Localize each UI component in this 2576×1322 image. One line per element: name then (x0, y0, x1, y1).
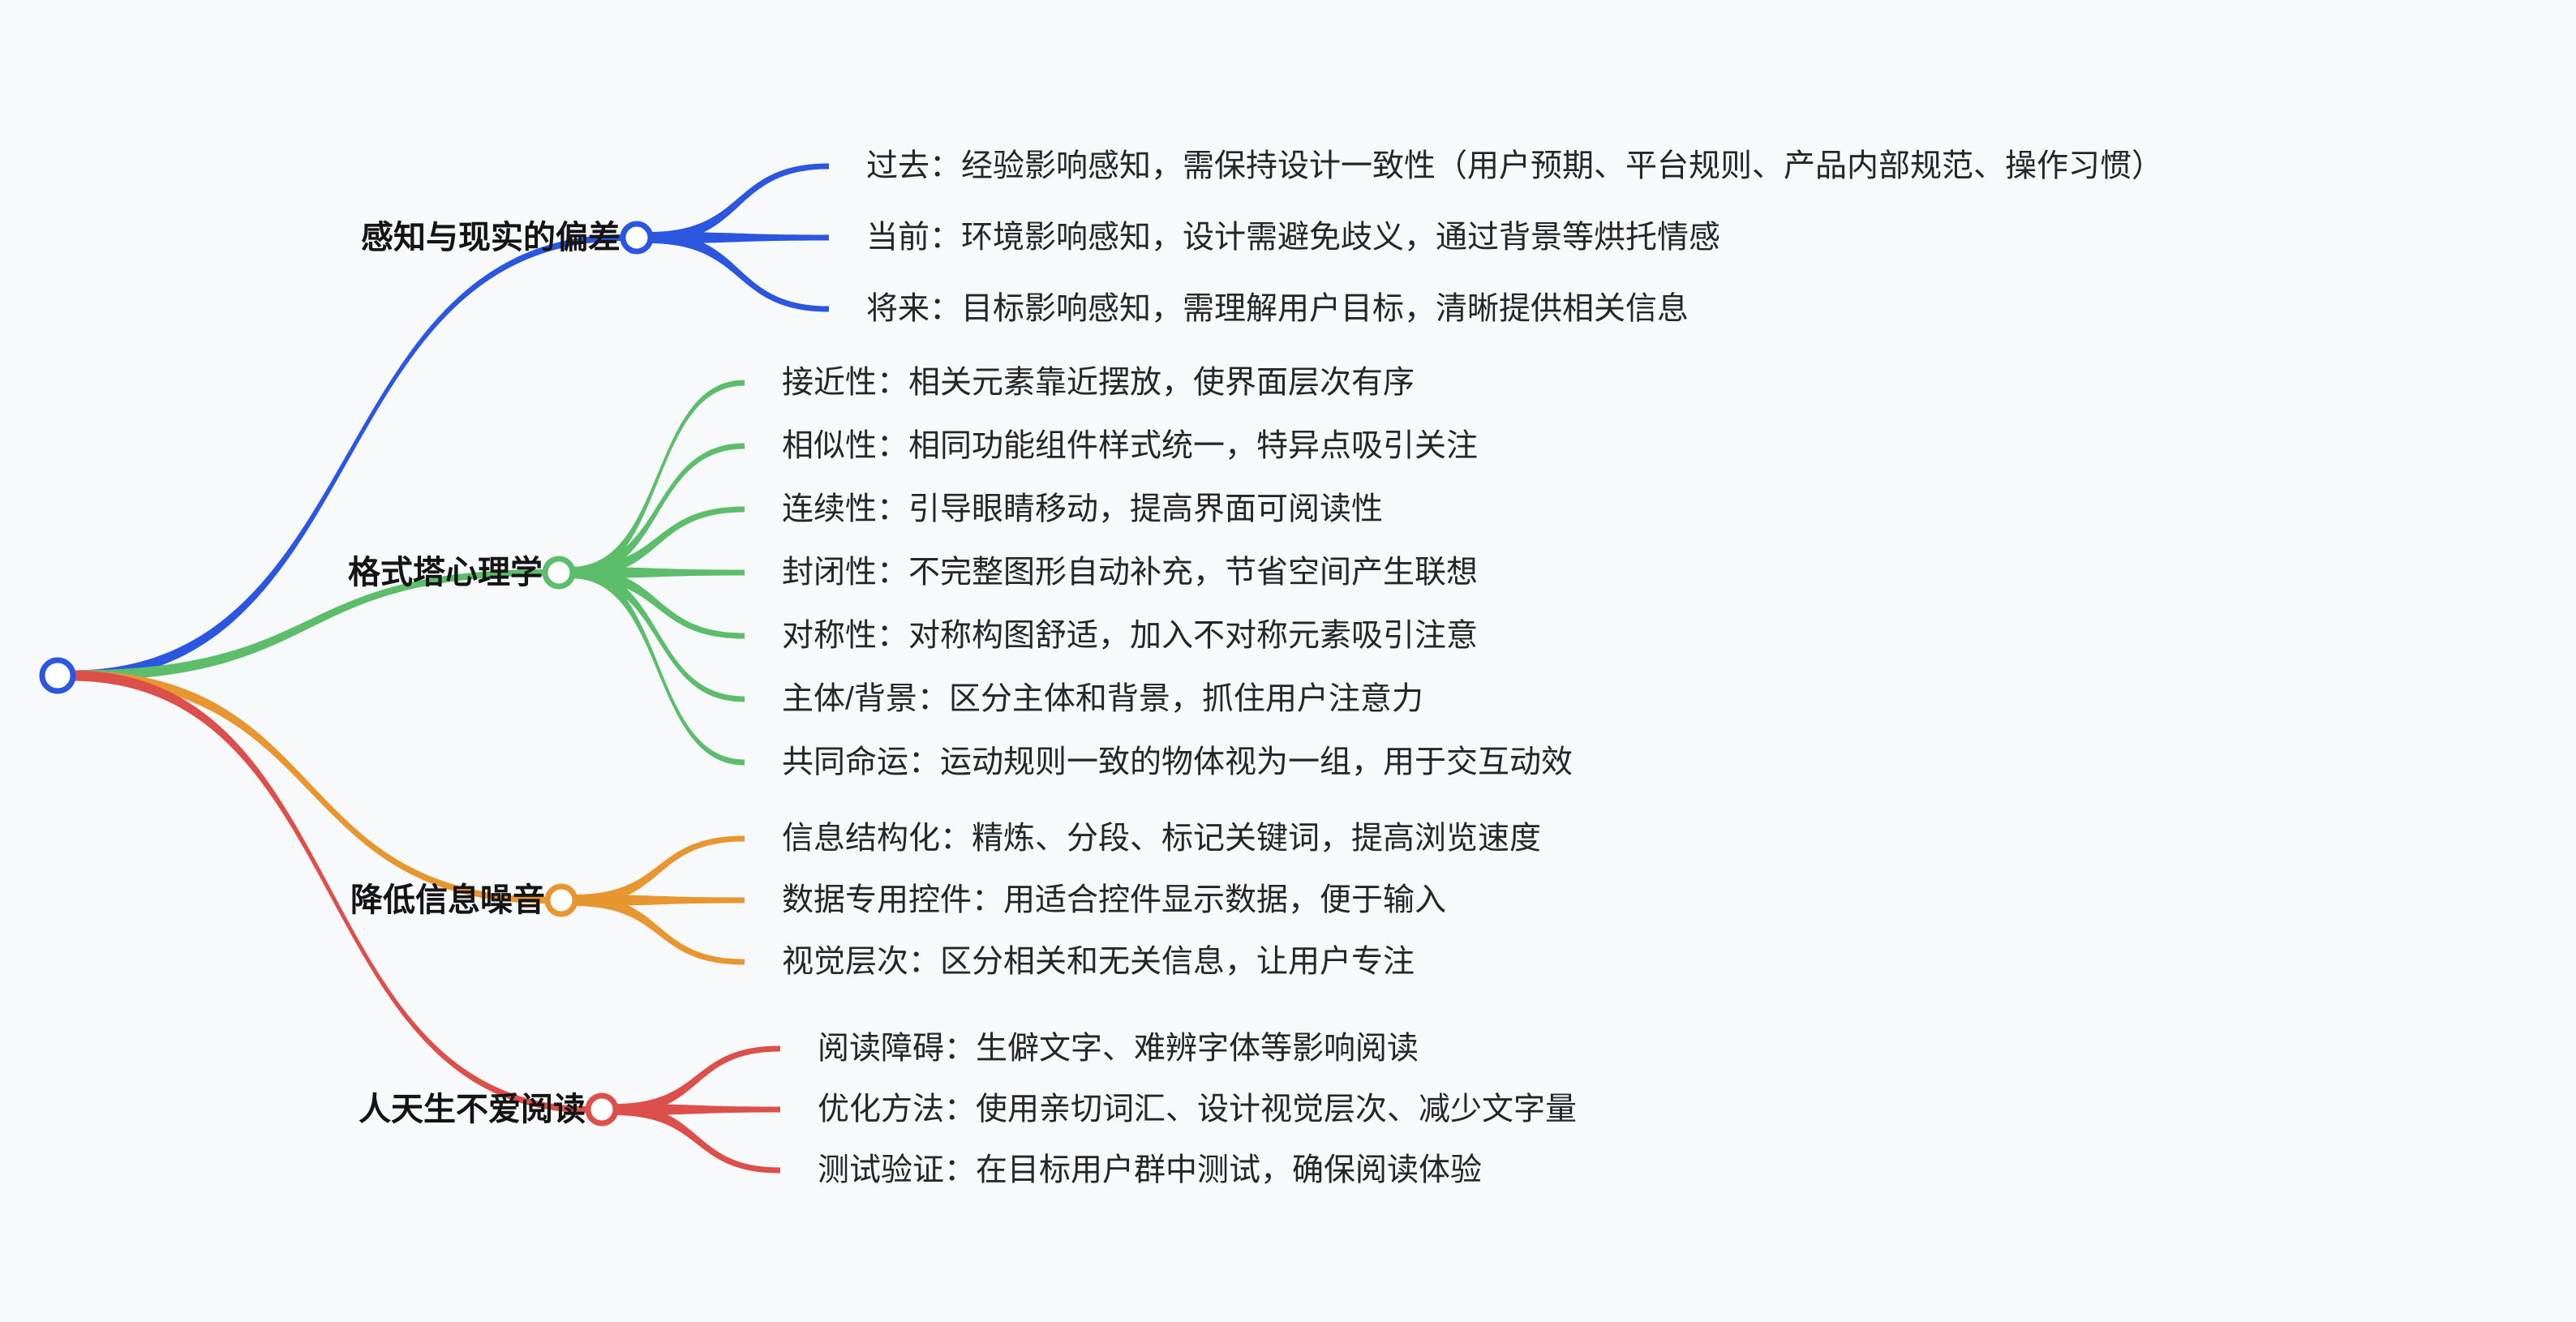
branch-node-3[interactable] (547, 886, 575, 914)
leaf-label-2-7[interactable]: 共同命运：运动规则一致的物体视为一组，用于交互动效 (782, 747, 1573, 779)
leaf-label-2-6[interactable]: 主体/背景：区分主体和背景，抓住用户注意力 (782, 684, 1423, 715)
leaf-label-4-1[interactable]: 阅读障碍：生僻文字、难辨字体等影响阅读 (818, 1033, 1419, 1065)
leaf-label-4-3[interactable]: 测试验证：在目标用户群中测试，确保阅读体验 (818, 1155, 1482, 1187)
leaf-label-2-5[interactable]: 对称性：对称构图舒适，加入不对称元素吸引注意 (782, 620, 1478, 652)
branch-label-4[interactable]: 人天生不爱阅读 (358, 1093, 586, 1126)
branch-label-1[interactable]: 感知与现实的偏差 (361, 221, 620, 254)
leaf-label-2-2[interactable]: 相似性：相同功能组件样式统一，特异点吸引关注 (782, 431, 1478, 462)
leaf-label-3-1[interactable]: 信息结构化：精炼、分段、标记关键词，提高浏览速度 (782, 823, 1541, 855)
branch-label-2[interactable]: 格式塔心理学 (348, 556, 543, 589)
leaf-edge-2-1 (571, 380, 745, 579)
leaf-label-2-3[interactable]: 连续性：引导眼睛移动，提高界面可阅读性 (782, 494, 1383, 526)
leaf-edge-1-1 (649, 164, 829, 244)
leaf-label-2-4[interactable]: 封闭性：不完整图形自动补充，节省空间产生联想 (782, 557, 1478, 589)
leaf-edge-1-3 (649, 232, 829, 312)
leaf-label-3-3[interactable]: 视觉层次：区分相关和无关信息，让用户专注 (782, 946, 1415, 978)
branch-edge-1 (71, 234, 625, 681)
leaf-edge-3-3 (573, 895, 745, 965)
leaf-label-3-2[interactable]: 数据专用控件：用适合控件显示数据，便于输入 (782, 885, 1446, 916)
leaf-label-1-1[interactable]: 过去：经验影响感知，需保持设计一致性（用户预期、平台规则、产品内部规范、操作习惯… (866, 151, 2163, 182)
branch-node-4[interactable] (588, 1096, 616, 1123)
leaf-edge-2-7 (571, 567, 745, 766)
branch-node-2[interactable] (545, 559, 573, 586)
leaf-edge-4-3 (614, 1104, 780, 1174)
branch-edge-3 (71, 671, 549, 904)
leaf-label-1-2[interactable]: 当前：环境影响感知，设计需避免歧义，通过背景等烘托情感 (866, 222, 1720, 254)
leaf-label-4-2[interactable]: 优化方法：使用亲切词汇、设计视觉层次、减少文字量 (818, 1094, 1577, 1126)
branch-node-1[interactable] (623, 224, 650, 251)
mindmap-canvas: 感知与现实的偏差过去：经验影响感知，需保持设计一致性（用户预期、平台规则、产品内… (0, 0, 2576, 1322)
root-node[interactable] (42, 660, 73, 691)
leaf-label-1-3[interactable]: 将来：目标影响感知，需理解用户目标，清晰提供相关信息 (866, 294, 1689, 325)
branch-label-3[interactable]: 降低信息噪音 (350, 884, 545, 916)
leaf-label-2-1[interactable]: 接近性：相关元素靠近摆放，使界面层次有序 (782, 367, 1415, 399)
